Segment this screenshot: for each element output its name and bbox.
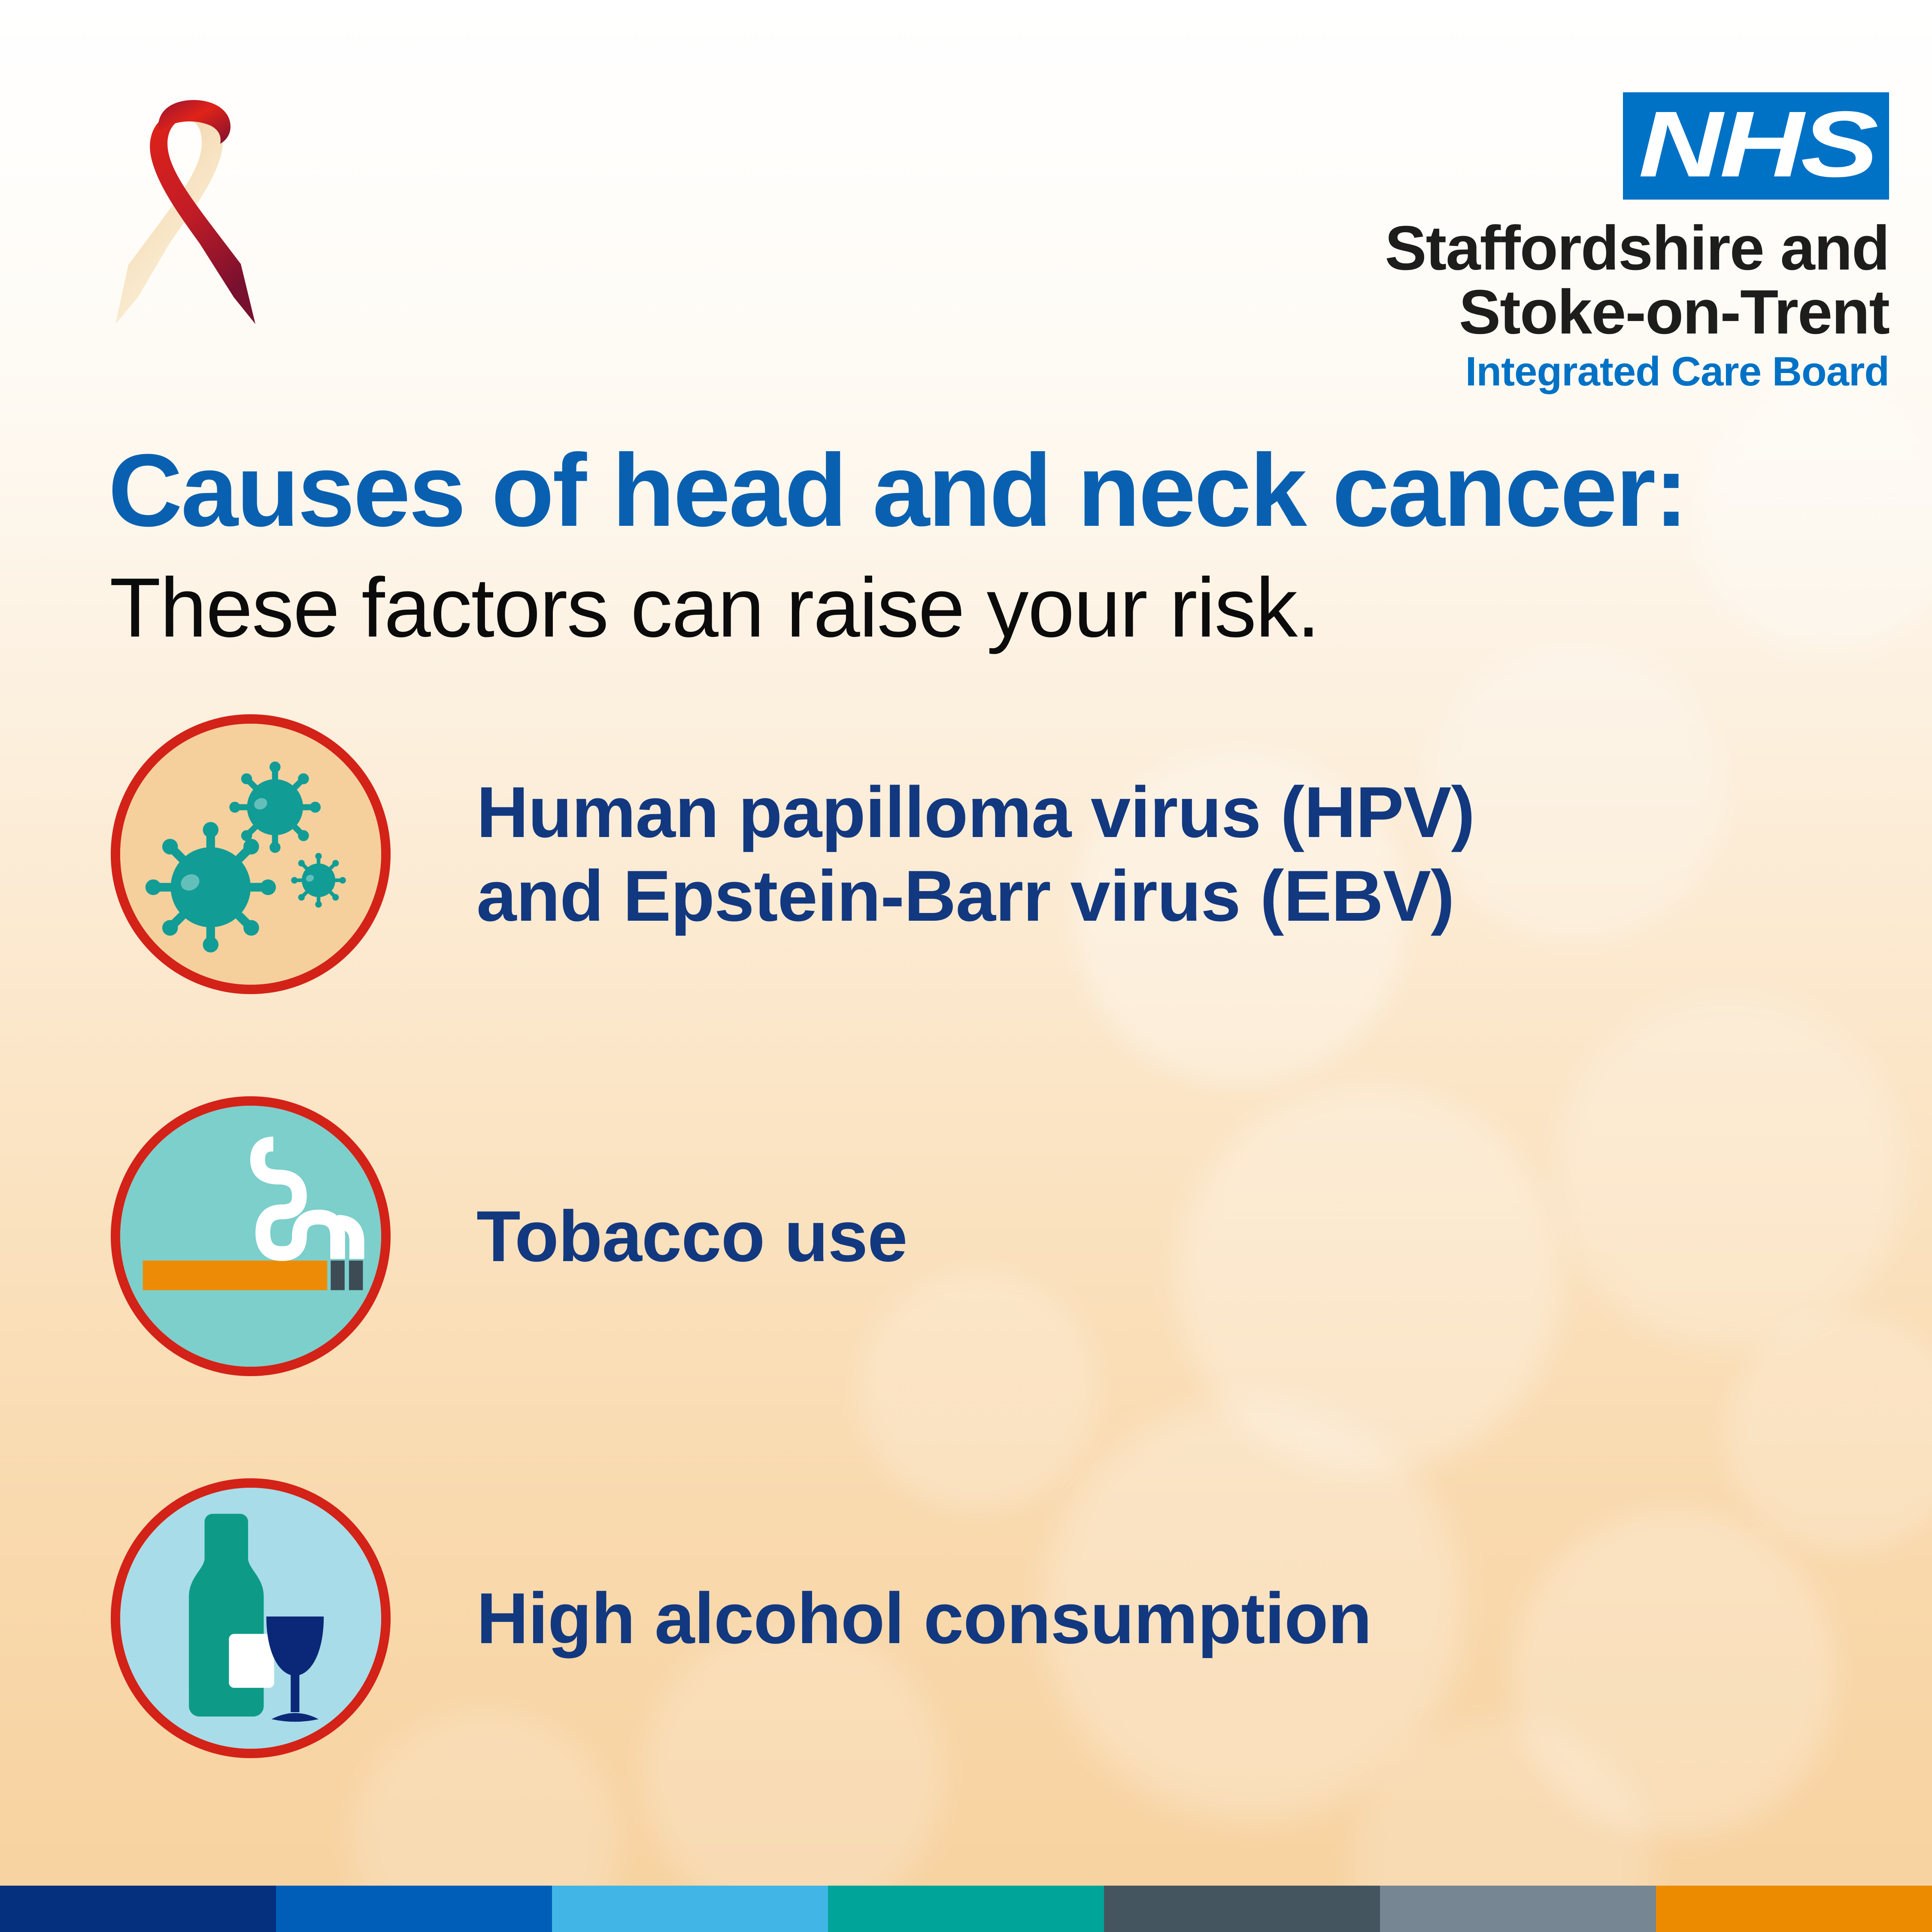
footer-segment	[276, 1886, 552, 1932]
poster-canvas: NHS Staffordshire and Stoke-on-Trent Int…	[0, 0, 1932, 1932]
footer-segment	[1104, 1886, 1380, 1932]
risk-factor-row: Human papilloma virus (HPV) and Epstein-…	[0, 708, 1932, 1000]
awareness-ribbon-icon	[109, 92, 277, 337]
risk-factor-label: Human papilloma virus (HPV) and Epstein-…	[476, 770, 1474, 938]
bokeh-circle	[1695, 386, 1932, 652]
footer-segment	[0, 1886, 276, 1932]
svg-text:NHS: NHS	[1638, 92, 1878, 197]
footer-segment	[828, 1886, 1104, 1932]
nhs-wordmark-box: NHS	[1623, 92, 1889, 200]
risk-factor-label: Tobacco use	[476, 1195, 907, 1278]
cigarette-icon	[111, 1096, 391, 1376]
footer-segment	[1656, 1886, 1932, 1932]
footer-segment	[552, 1886, 828, 1932]
page-subtitle: These factors can raise your risk.	[109, 566, 1319, 650]
risk-factor-row: High alcohol consumption	[0, 1472, 1932, 1764]
nhs-logo: NHS Staffordshire and Stoke-on-Trent Int…	[1385, 92, 1889, 394]
icb-sub-line: Integrated Care Board	[1385, 350, 1889, 394]
risk-factor-label: High alcohol consumption	[476, 1577, 1371, 1660]
virus-icon	[111, 714, 391, 994]
page-title: Causes of head and neck cancer:	[108, 439, 1686, 542]
alcohol-bottle-and-glass-icon	[111, 1478, 391, 1758]
icb-organisation-name: Staffordshire and Stoke-on-Trent	[1385, 216, 1889, 344]
risk-factor-row: Tobacco use	[0, 1090, 1932, 1382]
footer-colour-bar	[0, 1886, 1932, 1932]
footer-segment	[1380, 1886, 1656, 1932]
